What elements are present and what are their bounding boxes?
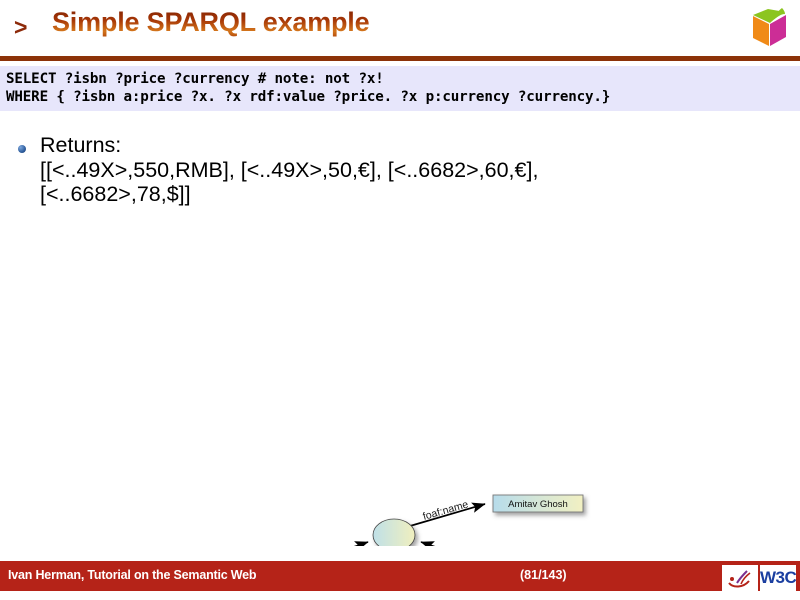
sparql-code-block: SELECT ?isbn ?price ?currency # note: no… xyxy=(0,66,800,111)
page-title: Simple SPARQL example xyxy=(52,7,369,38)
slide-header: > Simple SPARQL example xyxy=(0,0,800,58)
bullet-dot-icon xyxy=(18,145,26,153)
footer-bottom-edge xyxy=(0,591,800,600)
node-author-blank xyxy=(373,519,415,546)
edge-a-author-left: a:author xyxy=(253,542,368,546)
node-label-author-name: Amitav Ghosh xyxy=(508,499,568,510)
node-author-name: Amitav Ghosh xyxy=(493,495,583,512)
returns-bullet-block: Returns: [[<..49X>,550,RMB], [<..49X>,50… xyxy=(16,133,786,207)
edge-label-foaf-name: foaf:name xyxy=(422,498,470,522)
erc-logo xyxy=(722,565,758,593)
sparql-line-1: SELECT ?isbn ?price ?currency # note: no… xyxy=(6,71,384,87)
w3c-logo: W3C xyxy=(760,565,796,591)
footer-page-number: (81/143) xyxy=(520,568,567,582)
w3c-logo-text: W3C xyxy=(760,565,796,591)
edge-foaf-name: foaf:name xyxy=(410,498,485,526)
title-chevron-marker: > xyxy=(14,14,27,41)
returns-text: Returns: [[<..49X>,550,RMB], [<..49X>,50… xyxy=(40,133,786,207)
edge-a-author-right: a:author xyxy=(421,542,543,546)
rdf-graph-diagram: foaf:name a:author a:author a:price a:pr… xyxy=(0,236,800,546)
header-divider-rule xyxy=(0,56,800,61)
semantic-web-cube-logo xyxy=(744,2,794,52)
sparql-line-2: WHERE { ?isbn a:price ?x. ?x rdf:value ?… xyxy=(6,89,610,105)
footer-author-text: Ivan Herman, Tutorial on the Semantic We… xyxy=(8,568,256,582)
